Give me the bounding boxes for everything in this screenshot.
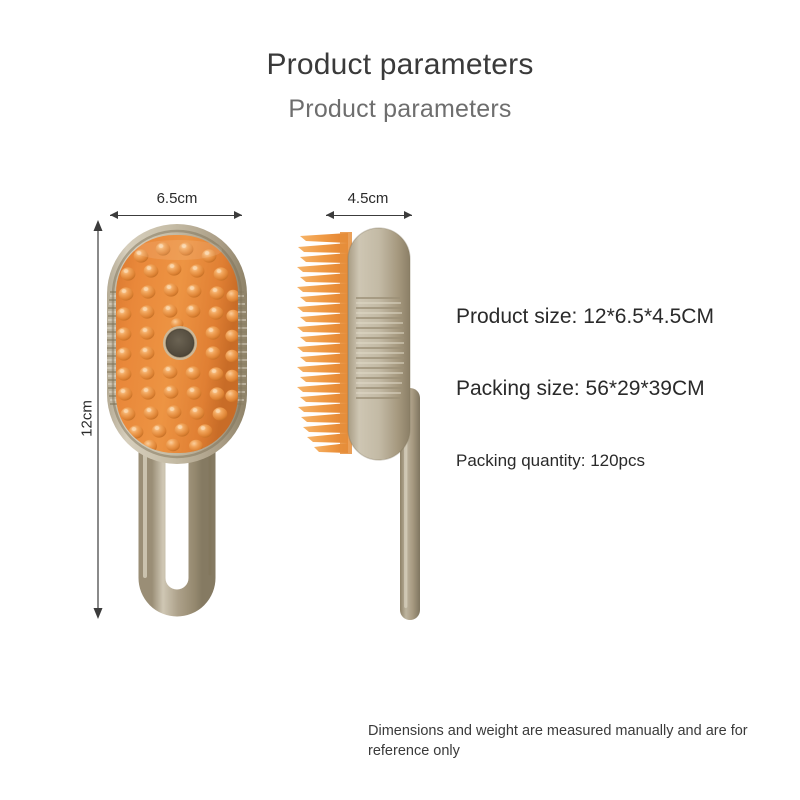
front-comb-teeth-right: [230, 292, 247, 404]
side-handle-bar: [400, 388, 420, 620]
front-head-frame: [107, 224, 247, 464]
front-head-inner-ring: [113, 231, 241, 457]
arrow-head-right-icon: [404, 211, 412, 219]
dimension-label-depth: 4.5cm: [325, 190, 411, 207]
specification-list: Product size: 12*6.5*4.5CM Packing size:…: [456, 305, 776, 471]
product-side-view: [297, 228, 420, 620]
dimension-arrow-depth: [326, 211, 412, 220]
page-title: Product parameters: [0, 48, 800, 82]
product-parameters-page: Product parameters Product parameters: [0, 0, 800, 800]
measurement-disclaimer: Dimensions and weight are measured manua…: [368, 722, 768, 761]
front-comb-teeth-left: [107, 292, 124, 404]
dimension-line: [326, 215, 412, 216]
spec-packing-size: Packing size: 56*29*39CM: [456, 377, 776, 401]
front-center-hole: [163, 326, 197, 360]
side-ridge-lines: [356, 298, 404, 398]
arrow-head-left-icon: [110, 211, 118, 219]
page-subtitle: Product parameters: [0, 95, 800, 124]
product-front-view: [107, 224, 247, 603]
dimension-line: [110, 215, 242, 216]
side-body: [348, 228, 410, 460]
front-silicone-pad: [116, 235, 238, 453]
dimension-arrow-width: [110, 211, 242, 220]
arrow-head-right-icon: [234, 211, 242, 219]
spec-product-size: Product size: 12*6.5*4.5CM: [456, 305, 776, 329]
spec-packing-quantity: Packing quantity: 120pcs: [456, 451, 776, 471]
dimension-label-height: 12cm: [79, 389, 96, 449]
front-bump-grid: [117, 242, 240, 452]
dimension-label-width: 6.5cm: [132, 190, 222, 207]
front-handle-loop: [145, 430, 210, 603]
side-bristles: [297, 233, 348, 453]
arrow-head-left-icon: [326, 211, 334, 219]
